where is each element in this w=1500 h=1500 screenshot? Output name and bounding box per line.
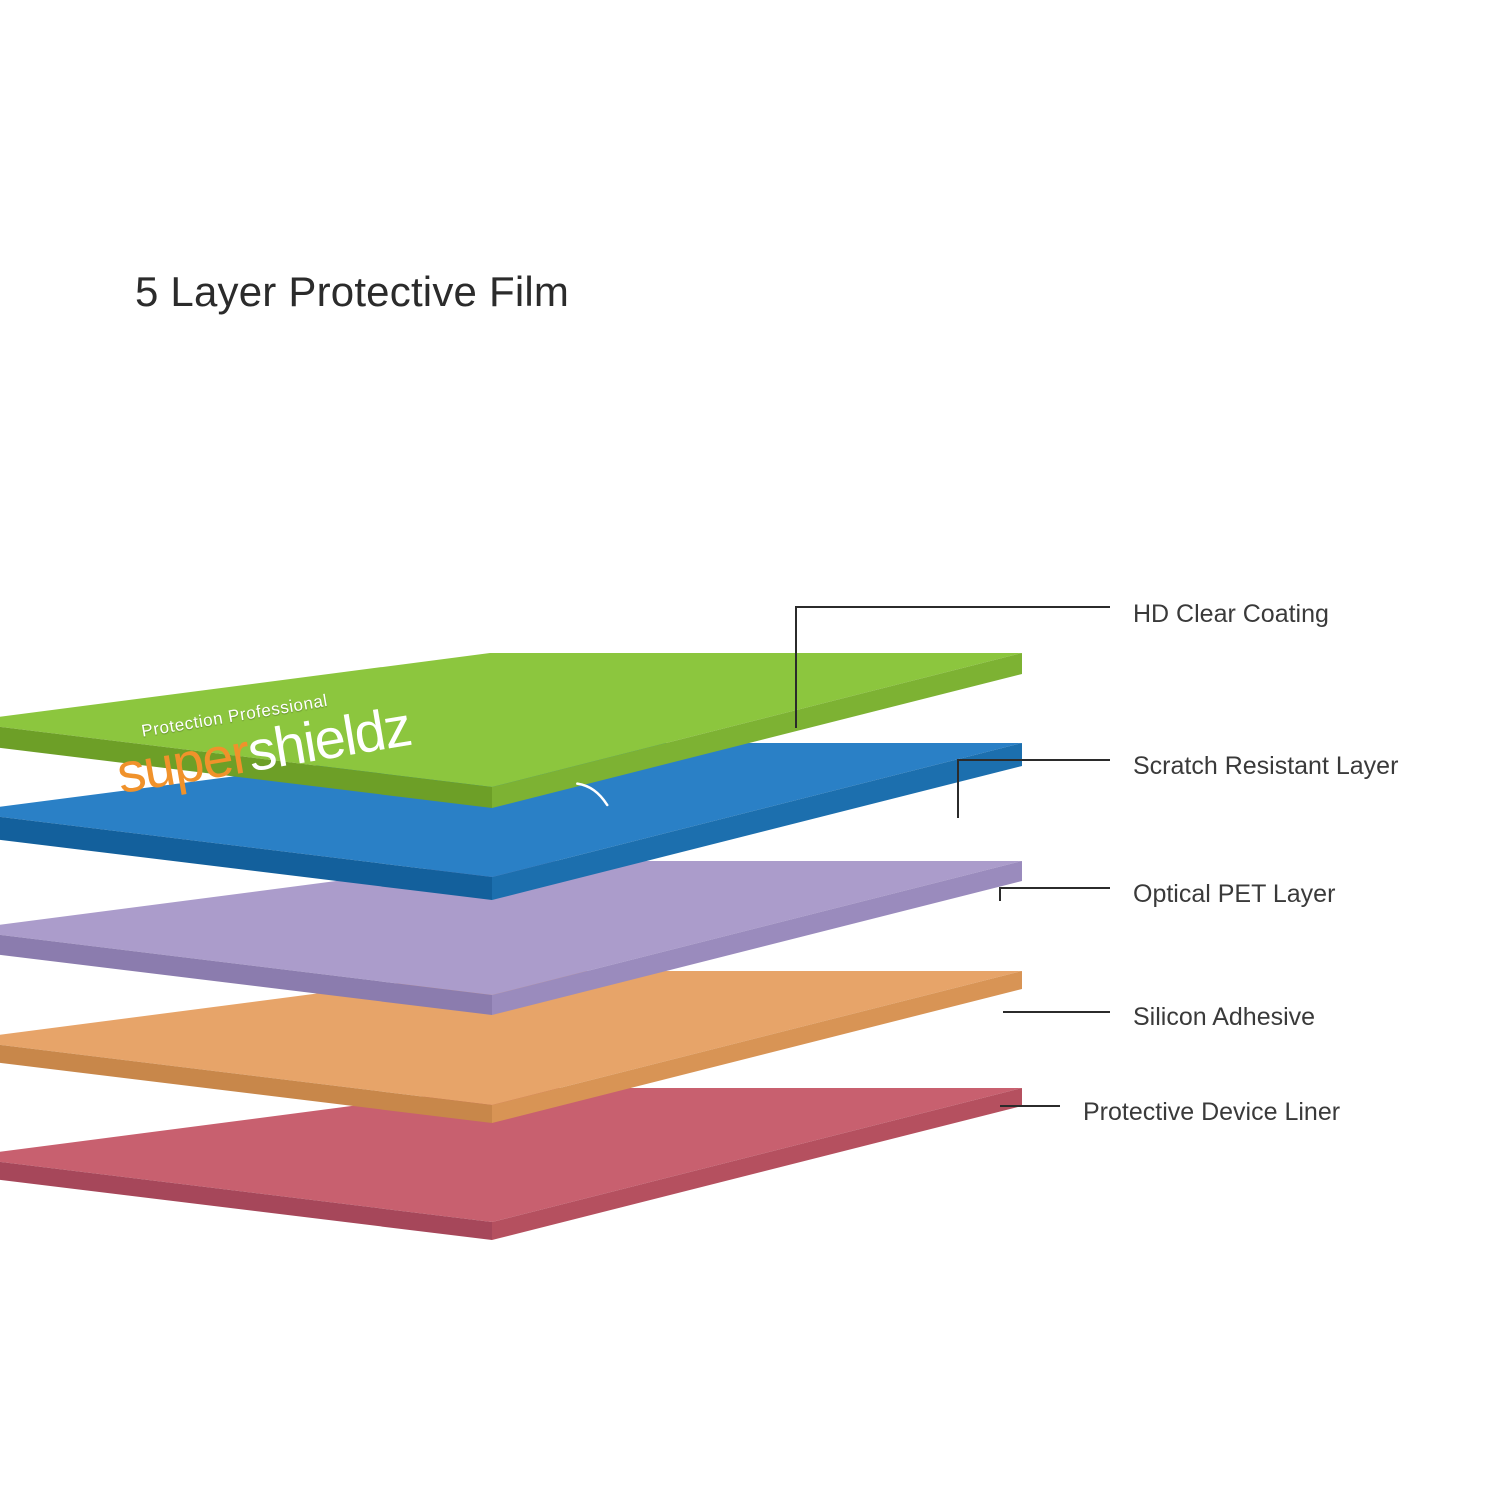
layer-stack-illustration bbox=[0, 0, 1500, 1500]
callout-label-scratch-resistant: Scratch Resistant Layer bbox=[1133, 752, 1398, 781]
leader-line-optical-pet bbox=[1000, 888, 1110, 901]
callout-label-hd-clear-coating: HD Clear Coating bbox=[1133, 600, 1329, 629]
diagram-canvas: 5 Layer Protective Film bbox=[0, 0, 1500, 1500]
callout-label-protective-device-liner: Protective Device Liner bbox=[1083, 1098, 1340, 1127]
callout-label-silicon-adhesive: Silicon Adhesive bbox=[1133, 1003, 1315, 1032]
callout-label-optical-pet: Optical PET Layer bbox=[1133, 880, 1335, 909]
